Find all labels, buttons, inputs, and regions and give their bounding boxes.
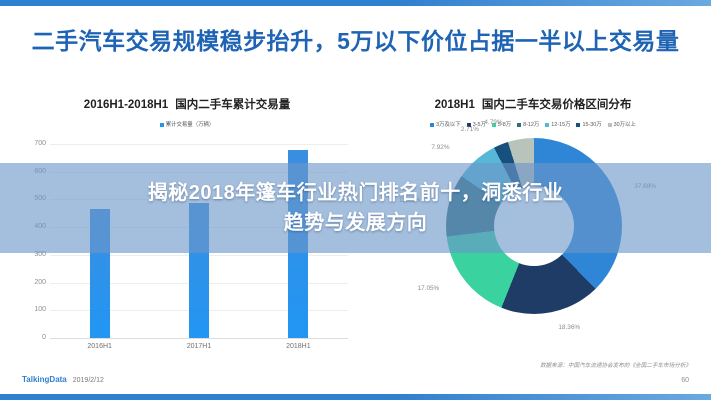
legend-swatch-icon	[576, 123, 580, 127]
slide-canvas: 二手汽车交易规模稳步抬升，5万以下价位占据一半以上交易量 2016H1-2018…	[0, 0, 711, 400]
overlay-line-1: 揭秘2018年篷车行业热门排名前十，洞悉行业	[148, 182, 564, 204]
left-chart-name: 国内二手车累计交易量	[175, 99, 290, 111]
legend-item: 15-30万	[576, 121, 601, 129]
pie-value-label: 7.92%	[431, 144, 449, 151]
right-chart-title: 2018H1国内二手车交易价格区间分布	[368, 96, 698, 112]
right-chart-header: 2018H1国内二手车交易价格区间分布 3万及以下3-5万5-8万8-12万12…	[368, 96, 698, 129]
brand-logo: TalkingData2019/2/12	[22, 375, 104, 384]
page-number: 60	[681, 377, 689, 384]
y-axis-tick: 700	[22, 140, 46, 147]
legend-item: 累计交易量（万辆）	[160, 121, 215, 129]
left-chart-title: 2016H1-2018H1国内二手车累计交易量	[22, 96, 352, 112]
left-chart-header: 2016H1-2018H1国内二手车累计交易量 累计交易量（万辆）	[22, 96, 352, 129]
legend-label: 累计交易量（万辆）	[166, 122, 215, 128]
right-chart-legend: 3万及以下3-5万5-8万8-12万12-15万15-30万30万以上	[368, 121, 698, 129]
left-chart-legend: 累计交易量（万辆）	[22, 121, 352, 129]
x-axis-tick: 2017H1	[169, 343, 229, 350]
legend-swatch-icon	[608, 123, 612, 127]
x-axis-tick: 2018H1	[268, 343, 328, 350]
grid-line	[50, 144, 348, 145]
pie-value-label: 17.05%	[418, 285, 440, 292]
right-chart-name: 国内二手车交易价格区间分布	[482, 99, 632, 111]
pie-value-label: 18.36%	[558, 324, 580, 331]
overlay-banner: 揭秘2018年篷车行业热门排名前十，洞悉行业 趋势与发展方向	[0, 163, 711, 253]
legend-swatch-icon	[517, 123, 521, 127]
slide-title: 二手汽车交易规模稳步抬升，5万以下价位占据一半以上交易量	[0, 22, 711, 56]
legend-item: 30万以上	[608, 121, 636, 129]
legend-label: 3万及以下	[436, 122, 461, 128]
legend-swatch-icon	[545, 123, 549, 127]
y-axis-tick: 200	[22, 279, 46, 286]
legend-label: 30万以上	[614, 122, 636, 128]
y-axis-tick: 0	[22, 334, 46, 341]
legend-label: 12-15万	[551, 122, 570, 128]
pie-value-label: 4.79%	[484, 119, 502, 126]
left-chart-range: 2016H1-2018H1	[84, 99, 168, 111]
legend-label: 15-30万	[582, 122, 601, 128]
legend-item: 8-12万	[517, 121, 539, 129]
x-axis-tick: 2016H1	[70, 343, 130, 350]
legend-item: 3万及以下	[430, 121, 461, 129]
x-axis-line	[50, 338, 348, 339]
y-axis-tick: 100	[22, 306, 46, 313]
slide-date: 2019/2/12	[73, 377, 104, 384]
brand-name: TalkingData	[22, 375, 67, 384]
right-chart-range: 2018H1	[435, 99, 475, 111]
legend-item: 12-15万	[545, 121, 570, 129]
top-accent-bar	[0, 0, 711, 6]
legend-label: 8-12万	[523, 122, 539, 128]
pie-value-label: 2.71%	[461, 126, 479, 133]
legend-swatch-icon	[160, 123, 164, 127]
bottom-accent-bar	[0, 394, 711, 400]
source-note: 数据来源：中国汽车流通协会发布的《全国二手车市场分析》	[540, 361, 691, 369]
overlay-line-2: 趋势与发展方向	[284, 212, 428, 234]
overlay-headline: 揭秘2018年篷车行业热门排名前十，洞悉行业 趋势与发展方向	[122, 178, 590, 238]
legend-swatch-icon	[430, 123, 434, 127]
